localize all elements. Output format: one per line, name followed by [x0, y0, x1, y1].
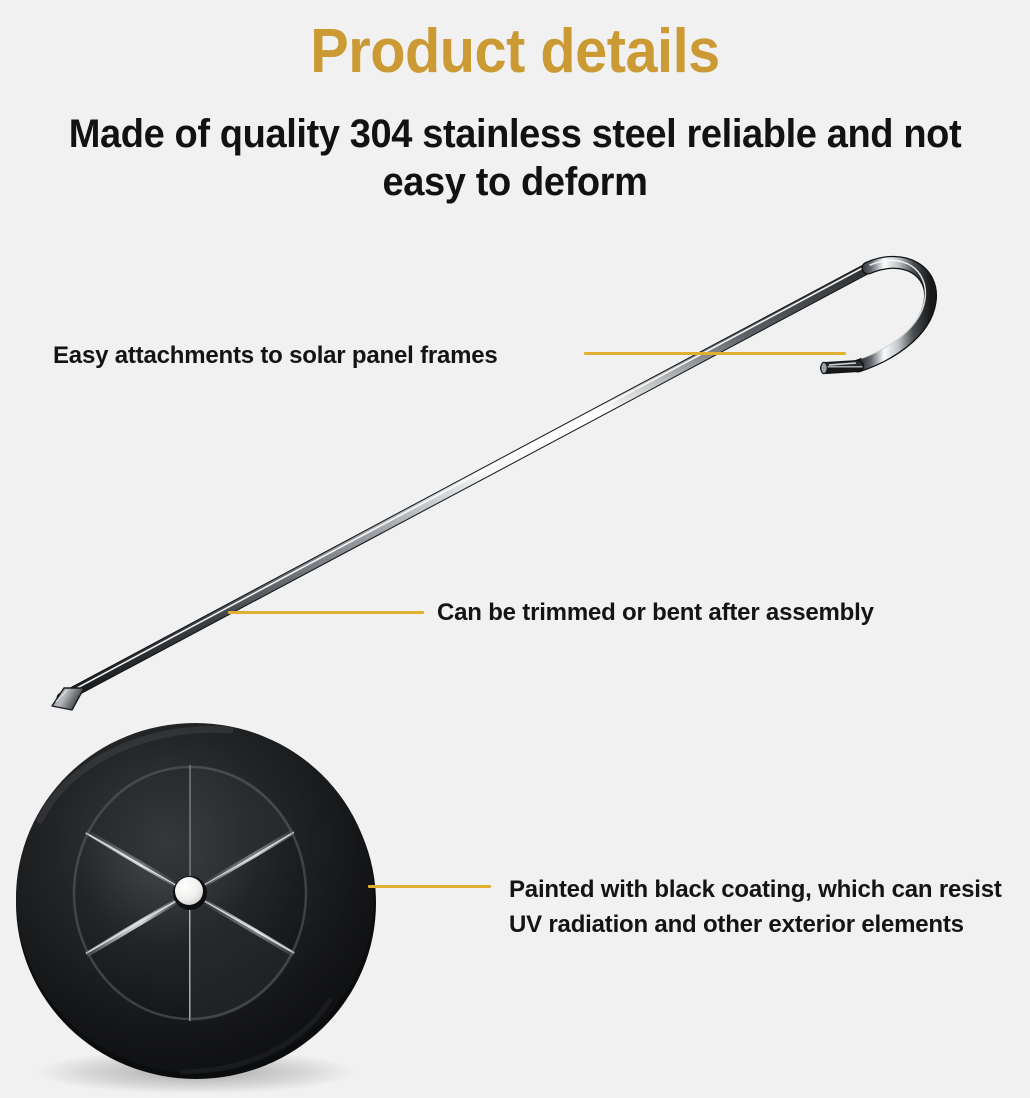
- leader-line-coating: [368, 885, 491, 888]
- rod-pointed-tip: [52, 688, 84, 710]
- disc-rib-group: [73, 752, 307, 1028]
- disc-hub-ring: [173, 876, 207, 910]
- disc-outer-body: [16, 723, 376, 1079]
- disc-inner-dome: [72, 752, 308, 1028]
- leader-line-trimmed: [228, 611, 424, 614]
- product-details-page: Product details Made of quality 304 stai…: [0, 0, 1030, 1098]
- rod-hook-bend: [858, 260, 931, 366]
- disc-drop-shadow: [36, 1050, 356, 1094]
- annotation-black-coating: Painted with black coating, which can re…: [509, 872, 1009, 942]
- disc-center-hub: [175, 877, 203, 905]
- annotation-easy-attachments: Easy attachments to solar panel frames: [53, 338, 498, 373]
- rod-main-shaft: [62, 264, 872, 698]
- page-title: Product details: [36, 16, 994, 88]
- rod-return-leg: [821, 362, 858, 373]
- leader-line-attachments: [584, 352, 846, 355]
- page-subtitle: Made of quality 304 stainless steel reli…: [69, 110, 962, 206]
- annotation-trimmed-or-bent: Can be trimmed or bent after assembly: [437, 595, 874, 630]
